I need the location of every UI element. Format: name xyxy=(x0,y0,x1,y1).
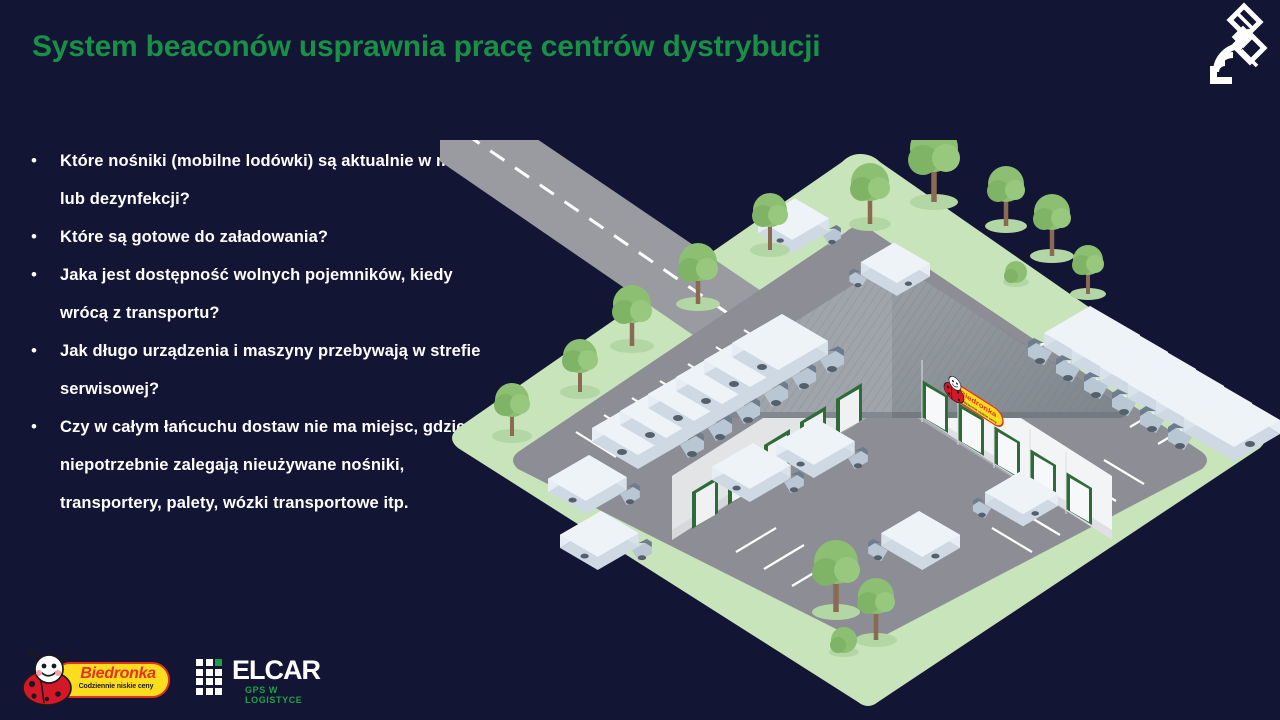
bullet-marker: • xyxy=(26,256,60,294)
satellite-icon xyxy=(1172,2,1272,94)
ladybug-icon xyxy=(18,652,80,706)
bullet-text: Które są gotowe do załadowania? xyxy=(60,218,328,256)
bullet-text: Które nośniki (mobilne lodówki) są aktua… xyxy=(60,142,496,218)
biedronka-name: Biedronka xyxy=(70,665,166,683)
bullet-item: • Jak długo urządzenia i maszyny przebyw… xyxy=(26,332,496,408)
biedronka-logo: Biedronka Codziennie niskie ceny xyxy=(18,650,170,706)
elcar-logo: ELCAR GPS W LOGISTYCE xyxy=(196,653,336,703)
elcar-wordmark: ELCAR xyxy=(232,655,320,686)
bullet-text: Czy w całym łańcuchu dostaw nie ma miejs… xyxy=(60,408,496,522)
biedronka-tagline: Codziennie niskie ceny xyxy=(66,683,166,690)
elcar-tagline: GPS W LOGISTYCE xyxy=(245,685,336,705)
bullet-text: Jak długo urządzenia i maszyny przebywaj… xyxy=(60,332,496,408)
bullet-marker: • xyxy=(26,332,60,370)
footer-logos: Biedronka Codziennie niskie ceny xyxy=(18,650,336,706)
elcar-grid-icon xyxy=(196,659,222,695)
bullet-marker: • xyxy=(26,218,60,256)
bullet-marker: • xyxy=(26,142,60,180)
bullet-marker: • xyxy=(26,408,60,446)
bullet-item: • Jaka jest dostępność wolnych pojemnikó… xyxy=(26,256,496,332)
slide-canvas: System beaconów usprawnia pracę centrów … xyxy=(0,0,1280,720)
bullet-item: • Czy w całym łańcuchu dostaw nie ma mie… xyxy=(26,408,496,522)
slide-title: System beaconów usprawnia pracę centrów … xyxy=(32,30,820,64)
bullet-list: • Które nośniki (mobilne lodówki) są akt… xyxy=(26,142,496,522)
isometric-distribution-center: Biedronka Codziennie niskie ceny xyxy=(440,140,1280,720)
bullet-text: Jaka jest dostępność wolnych pojemników,… xyxy=(60,256,496,332)
bullet-item: • Które są gotowe do załadowania? xyxy=(26,218,496,256)
bullet-item: • Które nośniki (mobilne lodówki) są akt… xyxy=(26,142,496,218)
